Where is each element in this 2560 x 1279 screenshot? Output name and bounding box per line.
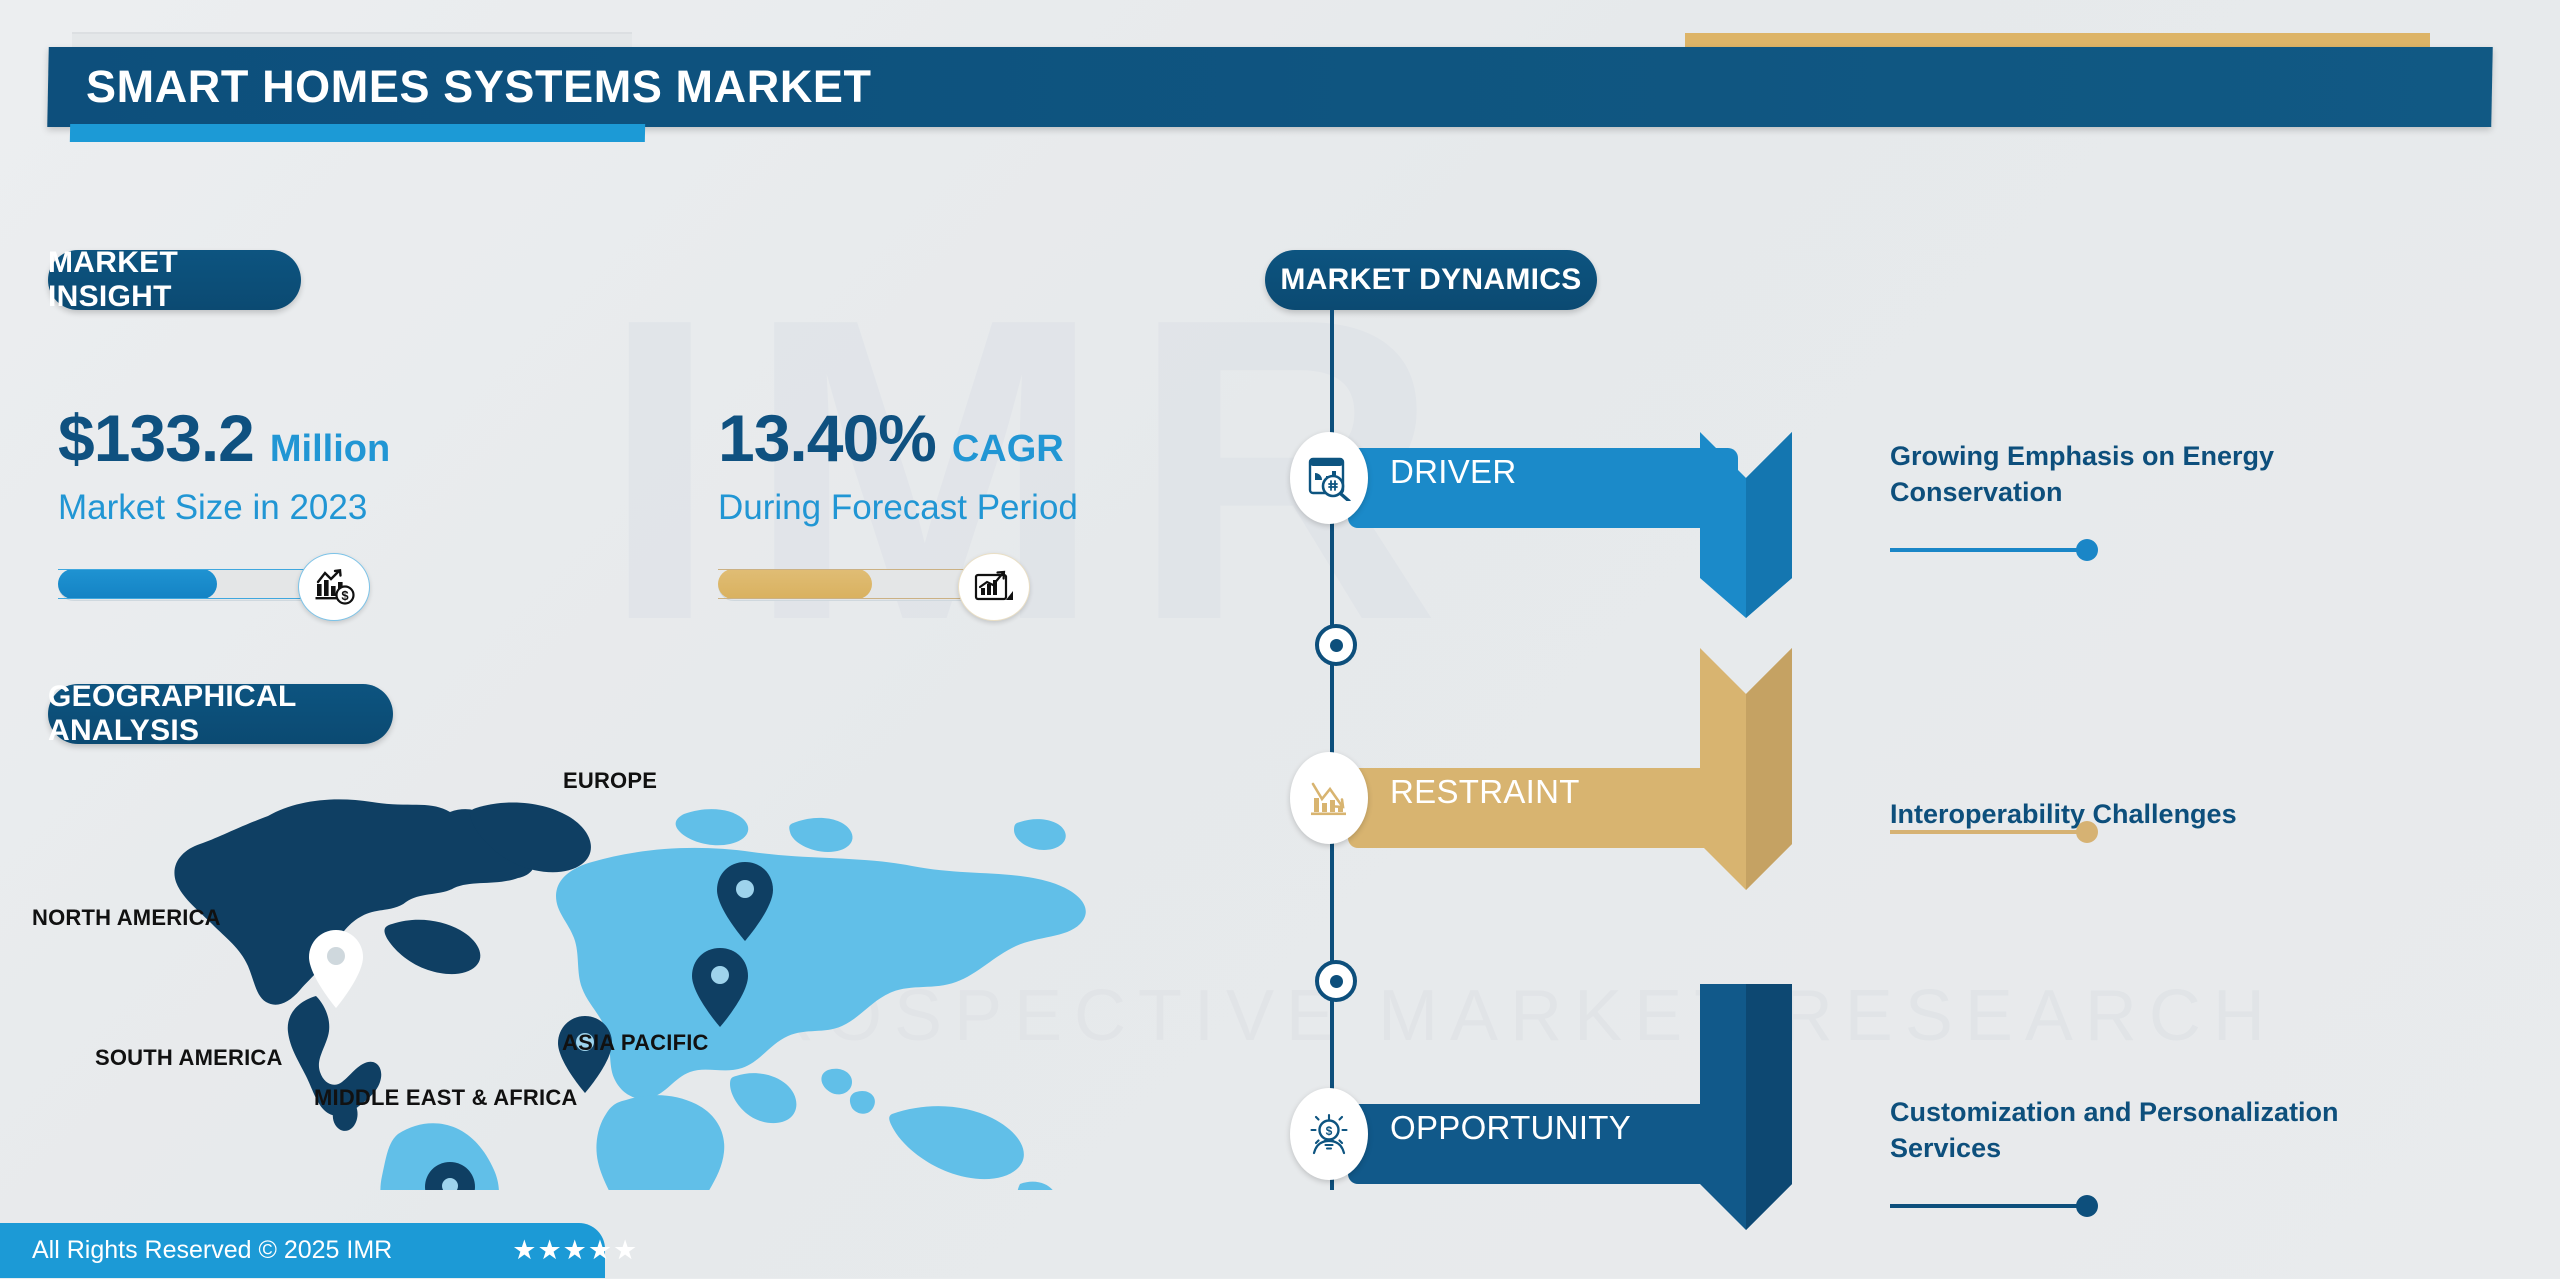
restraint-description: Interoperability Challenges [1890,796,2410,832]
stat-market-size: $133.2 Million Market Size in 2023 [58,400,390,528]
opportunity-arrow-shape [1700,984,1792,1274]
progress-rails [718,569,974,599]
map-label-asia-pacific: ASIA PACIFIC [562,1030,709,1056]
stat-cagr: 13.40% CAGR During Forecast Period [718,400,1078,528]
section-title-market-dynamics: MARKET DYNAMICS [1265,250,1597,310]
map-label-north-america: NORTH AMERICA [32,905,221,931]
footer-bar: All Rights Reserved © 2025 IMR ★★★★★ [0,1223,605,1278]
page-title: SMART HOMES SYSTEMS MARKET [86,61,872,113]
driver-description-wrap: Growing Emphasis on Energy Conservation [1890,438,2410,511]
map-label-middle-east-africa: MIDDLE EAST & AFRICA [314,1085,578,1111]
restraint-connector-line [1890,830,2086,834]
driver-connector-dot [2076,539,2098,561]
map-eurasia-africa-oceania [556,809,1086,1190]
restraint-connector-dot [2076,821,2098,843]
report-analysis-icon [1290,432,1368,524]
copyright-text: All Rights Reserved © 2025 IMR [32,1236,392,1265]
restraint-label: RESTRAINT [1390,752,1580,832]
opportunity-description: Customization and Personalization Servic… [1890,1094,2410,1167]
section-title-market-insight: MARKET INSIGHT [48,250,301,310]
driver-connector-line [1890,548,2086,552]
market-size-caption: Market Size in 2023 [58,488,390,528]
map-north-america [174,799,590,1131]
header-accent-strip [70,124,645,142]
opportunity-connector-dot [2076,1195,2098,1217]
cagr-unit: CAGR [952,428,1064,471]
map-label-south-america: SOUTH AMERICA [95,1045,283,1071]
spine-node-2 [1315,960,1357,1002]
world-map [120,770,1130,1190]
market-size-value: $133.2 [58,400,254,476]
progress-rails [58,569,314,599]
lightbulb-dollar-icon: $ [1290,1088,1368,1180]
infographic-canvas: IMR INTROSPECTIVE MARKET RESEARCH SMART … [0,0,2560,1278]
rating-stars: ★★★★★ [512,1235,638,1266]
cagr-caption: During Forecast Period [718,488,1078,528]
cagr-value: 13.40% [718,400,936,476]
spine-node-1 [1315,624,1357,666]
svg-text:$: $ [341,588,349,603]
svg-text:$: $ [1326,1124,1333,1138]
bar-chart-dollar-icon: $ [298,553,370,621]
map-label-europe: EUROPE [563,768,657,794]
declining-chart-icon [1290,752,1368,844]
growth-chart-icon [958,553,1030,621]
driver-label: DRIVER [1390,432,1517,512]
driver-arrow-shape [1700,328,1792,618]
market-size-progress: $ [58,563,314,607]
opportunity-description-wrap: Customization and Personalization Servic… [1890,1094,2410,1167]
restraint-description-wrap: Interoperability Challenges [1890,796,2410,832]
section-title-geographical-analysis: GEOGRAPHICAL ANALYSIS [48,684,393,744]
cagr-progress [718,563,974,607]
driver-description: Growing Emphasis on Energy Conservation [1890,438,2410,511]
market-size-unit: Million [270,428,390,471]
opportunity-connector-line [1890,1204,2086,1208]
map-pin-north-america [309,930,363,1008]
opportunity-label: OPPORTUNITY [1390,1088,1631,1168]
restraint-arrow-shape [1700,648,1792,938]
header-bar: SMART HOMES SYSTEMS MARKET [47,47,2493,127]
